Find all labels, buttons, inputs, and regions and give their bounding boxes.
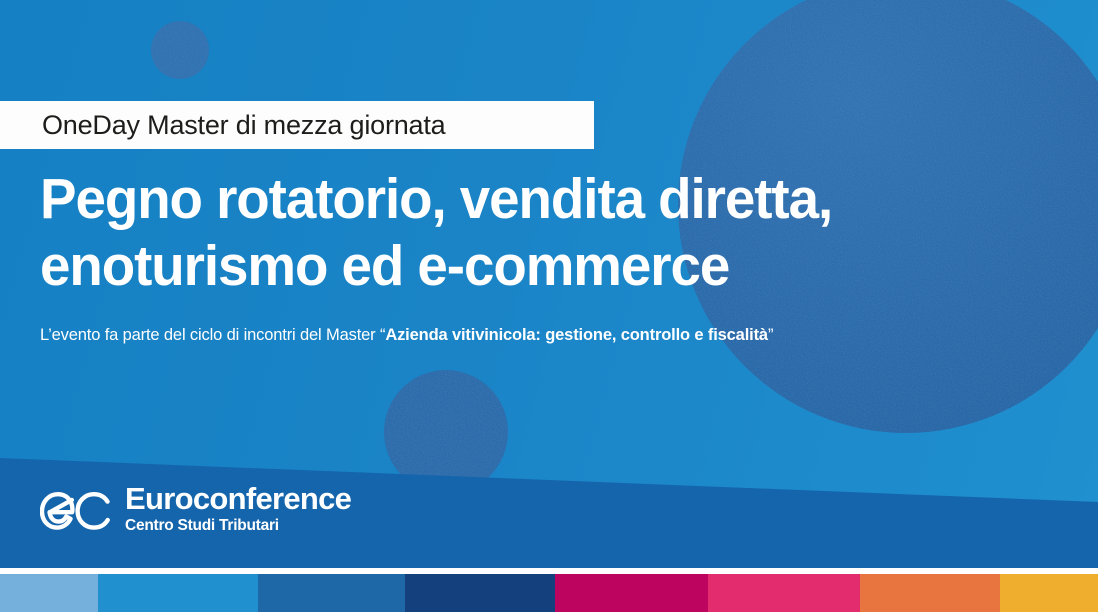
- subtitle: L’evento fa parte del ciclo di incontri …: [40, 326, 773, 346]
- stripe-band-navy: [405, 574, 555, 612]
- brand-name: Euroconference: [125, 483, 351, 515]
- ec-monogram-logo-icon: [40, 485, 112, 537]
- subtitle-lead: L’evento fa parte del ciclo di incontri …: [40, 326, 385, 344]
- brand-tagline: Centro Studi Tributari: [125, 517, 351, 534]
- stripe-band-azure: [98, 574, 258, 612]
- color-stripe: [0, 574, 1098, 612]
- footer-bar: Euroconference Centro Studi Tributari: [0, 440, 1098, 568]
- event-banner: OneDay Master di mezza giornata Pegno ro…: [0, 0, 1098, 612]
- subtitle-trail: ”: [768, 326, 773, 344]
- brand-text: Euroconference Centro Studi Tributari: [125, 483, 351, 534]
- eyebrow-text: OneDay Master di mezza giornata: [42, 112, 445, 139]
- stripe-band-magenta: [555, 574, 708, 612]
- page-title: Pegno rotatorio, vendita diretta, enotur…: [40, 166, 1010, 299]
- headline-line-2: enoturismo ed e-commerce: [40, 233, 1010, 300]
- eyebrow-label: OneDay Master di mezza giornata: [0, 101, 594, 149]
- stripe-band-gold: [1000, 574, 1098, 612]
- subtitle-master-name: Azienda vitivinicola: gestione, controll…: [385, 326, 768, 344]
- stripe-band-orange: [860, 574, 1000, 612]
- stripe-band-pink: [708, 574, 860, 612]
- stripe-band-steel-blue: [258, 574, 405, 612]
- stripe-band-light-blue: [0, 574, 98, 612]
- brand-lockup: Euroconference Centro Studi Tributari: [40, 483, 351, 537]
- headline-line-1: Pegno rotatorio, vendita diretta,: [40, 166, 1010, 233]
- decor-circle-small: [151, 21, 209, 79]
